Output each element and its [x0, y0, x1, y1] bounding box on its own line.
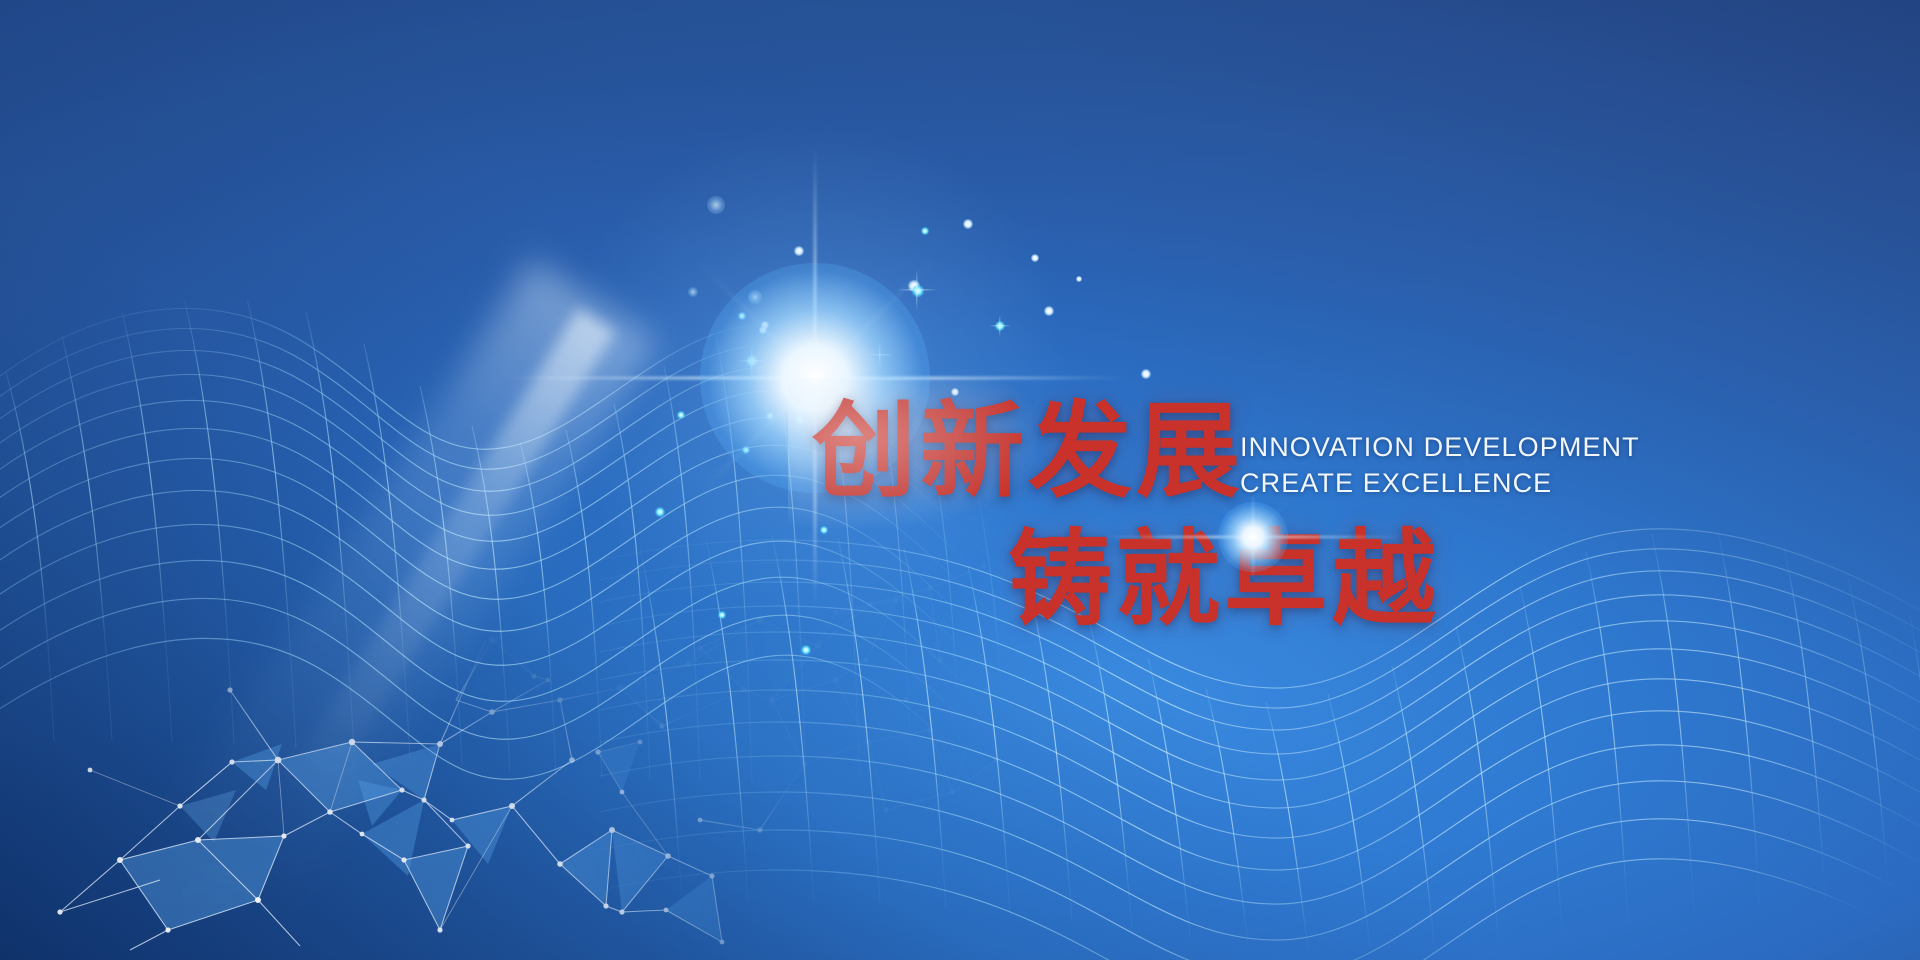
headline-line-1-text: 创新发展	[812, 394, 1244, 510]
headline-block: 创新发展 铸就卓越 INNOVATION DEVELOPMENT CREATE …	[0, 0, 1920, 960]
star-flare-small-core	[1218, 502, 1288, 572]
headline-line-1: 创新发展	[812, 400, 1244, 504]
subtitle-line-2: CREATE EXCELLENCE	[1240, 468, 1552, 499]
banner-canvas: 创新发展 铸就卓越 INNOVATION DEVELOPMENT CREATE …	[0, 0, 1920, 960]
subtitle-line-1: INNOVATION DEVELOPMENT	[1240, 432, 1640, 463]
